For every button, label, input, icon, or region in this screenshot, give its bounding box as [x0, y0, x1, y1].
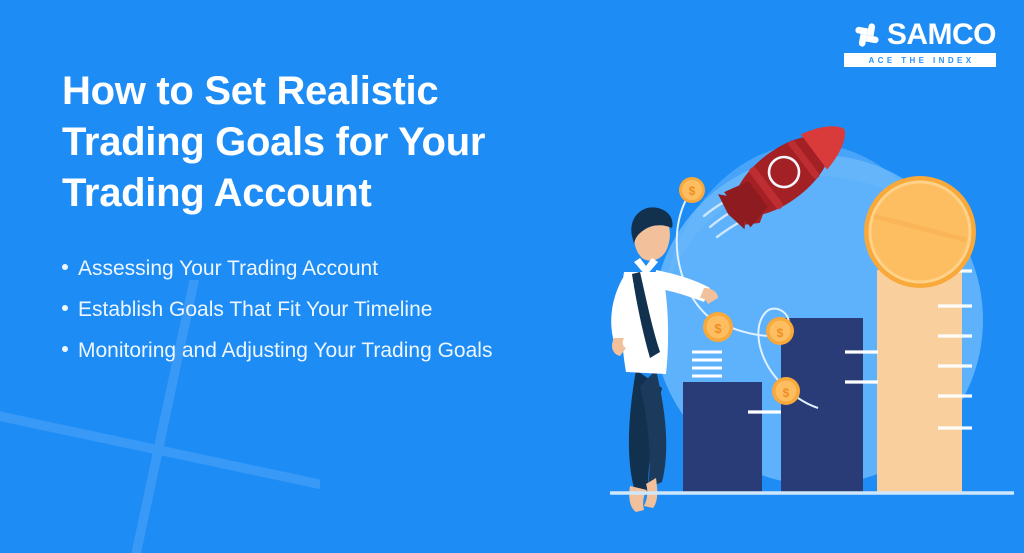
- large-gold-coin-icon: [864, 176, 976, 288]
- samco-logo[interactable]: SAMCO ACE THE INDEX: [831, 20, 996, 67]
- list-item-label: Assessing Your Trading Account: [78, 258, 378, 279]
- bar-tall-tan: [877, 270, 972, 492]
- headline-line-2: Trading Goals for Your: [62, 120, 485, 164]
- list-item: Establish Goals That Fit Your Timeline: [62, 299, 492, 320]
- headline-line-1: How to Set Realistic: [62, 69, 438, 113]
- list-item: Monitoring and Adjusting Your Trading Go…: [62, 340, 492, 361]
- list-item-label: Establish Goals That Fit Your Timeline: [78, 299, 432, 320]
- list-item-label: Monitoring and Adjusting Your Trading Go…: [78, 340, 492, 361]
- svg-text:$: $: [777, 326, 784, 340]
- banner-canvas: SAMCO ACE THE INDEX How to Set Realistic…: [0, 0, 1024, 553]
- headline-line-3: Trading Account: [62, 171, 372, 215]
- logo-primary-row: SAMCO: [852, 20, 996, 50]
- bullet-dot-icon: [62, 346, 68, 352]
- small-coin-icon: $: [679, 177, 705, 203]
- bullet-dot-icon: [62, 264, 68, 270]
- small-coin-icon: $: [772, 377, 800, 405]
- logo-tagline: ACE THE INDEX: [844, 53, 996, 67]
- small-coin-icon: $: [703, 312, 733, 342]
- small-coin-icon: $: [766, 317, 794, 345]
- svg-text:$: $: [689, 184, 696, 198]
- topic-list: Assessing Your Trading Account Establish…: [62, 258, 492, 381]
- svg-text:$: $: [714, 321, 722, 336]
- svg-text:$: $: [783, 386, 790, 400]
- bullet-dot-icon: [62, 305, 68, 311]
- samco-pinwheel-icon: [852, 20, 882, 50]
- page-title: How to Set Realistic Trading Goals for Y…: [62, 66, 582, 220]
- list-item: Assessing Your Trading Account: [62, 258, 492, 279]
- trading-growth-illustration: $ $ $ $: [600, 120, 1024, 553]
- logo-wordmark: SAMCO: [887, 20, 996, 50]
